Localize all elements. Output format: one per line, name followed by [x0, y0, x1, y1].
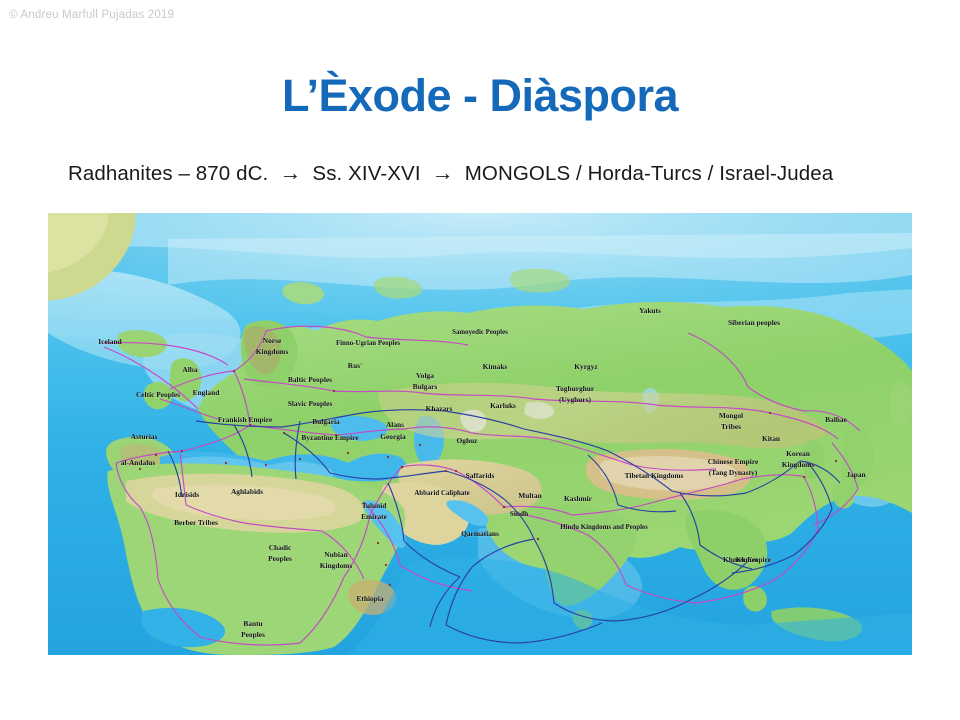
- copyright-notice: © Andreu Marfull Pujadas 2019: [9, 9, 174, 21]
- map-label: al-Andalus: [121, 458, 156, 467]
- map-label: Saffarids: [466, 471, 495, 480]
- map-label: Alans: [386, 420, 404, 429]
- map-label: Khazars: [426, 404, 453, 413]
- map-label: Volga: [416, 371, 434, 380]
- map-label: Yakuts: [639, 306, 661, 315]
- map-label: Celtic Peoples: [136, 390, 180, 399]
- map-label: Kingdoms: [782, 460, 815, 469]
- map-label: Siberian peoples: [728, 318, 780, 327]
- map-label: Bulgars: [413, 382, 438, 391]
- map-label: Balhae: [825, 415, 847, 424]
- map-label: Korean: [786, 449, 810, 458]
- map-label: Kingdoms: [256, 347, 289, 356]
- map-label: Finno-Ugrian Peoples: [336, 340, 400, 347]
- map-label: Samoyedic Peoples: [452, 329, 508, 336]
- map-label: Bantu: [243, 619, 262, 628]
- map-label: Norse: [263, 336, 282, 345]
- map-label: Bulgaria: [312, 417, 340, 426]
- map-svg-canvas: IcelandAlbaEnglandCeltic PeoplesAsturias…: [48, 213, 912, 655]
- map-label: Tibetan Kingdoms: [625, 471, 684, 480]
- map-label: Byzantine Empire: [301, 433, 359, 442]
- map-label: Sindh: [510, 509, 529, 518]
- map-label: Tribes: [721, 422, 741, 431]
- map-label: Chinese Empire: [708, 457, 759, 466]
- map-label: Kitan: [762, 434, 780, 443]
- map-label: Karluks: [490, 401, 516, 410]
- map-label: Nubian: [324, 550, 347, 559]
- map-label: Kyrgyz: [574, 362, 598, 371]
- map-label: Asturias: [131, 432, 158, 441]
- map-label: Kashmir: [564, 494, 593, 503]
- map-label: Kingdoms: [320, 561, 353, 570]
- map-label: Aghlabids: [231, 487, 263, 496]
- map-label: Georgia: [380, 432, 406, 441]
- map-label: Tulunid: [362, 501, 388, 510]
- map-label: Baltic Peoples: [288, 375, 332, 384]
- subtitle-part-3: MONGOLS / Horda-Turcs / Israel-Judea: [465, 162, 834, 185]
- arrow-icon-2: →: [421, 160, 465, 185]
- map-label: Chadic: [269, 543, 292, 552]
- map-label: Peoples: [268, 554, 292, 563]
- slide-canvas: © Andreu Marfull Pujadas 2019 L’Èxode - …: [0, 0, 960, 720]
- page-title: L’Èxode - Diàspora: [0, 70, 960, 122]
- map-label: Rus': [348, 361, 362, 370]
- map-label: Qarmatians: [461, 529, 499, 538]
- map-label: (Uyghurs): [559, 395, 592, 404]
- map-label: Mongol: [719, 411, 743, 420]
- map-label: Japan: [846, 470, 865, 479]
- subtitle-sequence: Radhanites – 870 dC.→Ss. XIV-XVI→MONGOLS…: [68, 160, 833, 186]
- map-label: Slavic Peoples: [288, 399, 333, 408]
- map-label: Multan: [518, 491, 541, 500]
- map-label: England: [193, 388, 221, 397]
- map-label: Kimaks: [483, 362, 508, 371]
- map-label: Toghurghur: [556, 384, 595, 393]
- map-label: Oghuz: [457, 436, 479, 445]
- arrow-icon-1: →: [268, 160, 312, 185]
- map-image: IcelandAlbaEnglandCeltic PeoplesAsturias…: [48, 213, 912, 655]
- map-label: (Tang Dynasty): [709, 468, 758, 477]
- map-label: Iceland: [98, 337, 122, 346]
- map-label: Emirate: [361, 512, 388, 521]
- subtitle-part-2: Ss. XIV-XVI: [312, 162, 420, 185]
- map-label: Hindu Kingdoms and Peoples: [560, 524, 648, 531]
- map-label: Khmer: [736, 555, 759, 564]
- map-label: Idrisids: [175, 490, 199, 499]
- subtitle-part-1: Radhanites – 870 dC.: [68, 162, 268, 185]
- map-label: Berber Tribes: [174, 518, 218, 527]
- map-label: Frankish Empire: [218, 415, 273, 424]
- map-label: Abbarid Caliphate: [414, 490, 469, 497]
- map-label: Ethiopia: [356, 594, 383, 603]
- map-label: Alba: [182, 365, 198, 374]
- map-label: Peoples: [241, 630, 265, 639]
